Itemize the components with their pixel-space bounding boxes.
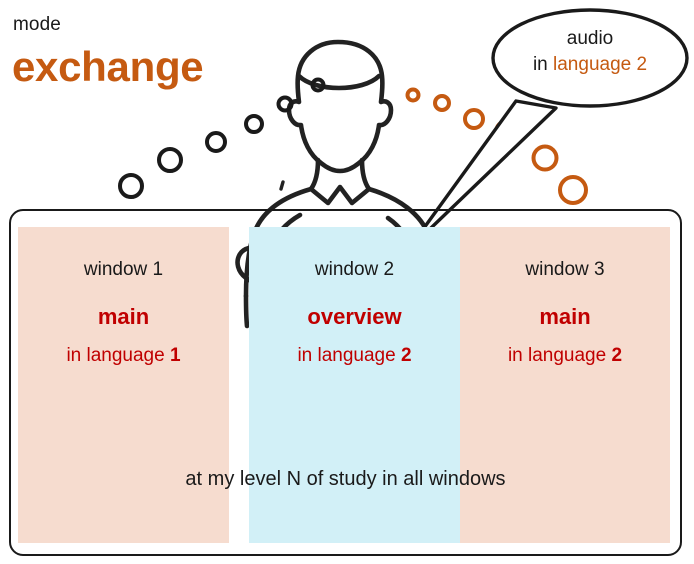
window-2-title: window 2 [249,258,460,282]
window-1-title: window 1 [18,258,229,282]
level-note: at my level N of study in all windows [9,466,682,492]
window-3-language-number: 2 [611,345,622,366]
speech-bubble-line-2-prefix: in [533,54,553,75]
window-1-role: main [18,304,229,330]
mode-kicker: mode [13,14,61,36]
window-2-language: in language 2 [249,344,460,368]
speech-bubble-line-1: audio [497,26,683,52]
window-1-language-number: 1 [170,345,181,366]
window-3-language-prefix: in language [508,345,612,366]
diagram-canvas: mode exchange [0,0,694,564]
decorative-circles-left [120,80,324,198]
window-1-language-prefix: in language [66,345,170,366]
page-title: exchange [12,42,203,92]
speech-bubble-text: audio in language 2 [497,26,683,78]
decorative-circles-right [408,90,587,204]
window-3-title: window 3 [460,258,670,282]
window-2-language-number: 2 [401,345,412,366]
window-1-panel[interactable]: window 1 main in language 1 [18,227,229,543]
speech-bubble-language-highlight: language 2 [553,54,647,75]
window-3-role: main [460,304,670,330]
window-2-panel[interactable]: window 2 overview in language 2 [249,227,460,543]
window-2-language-prefix: in language [297,345,401,366]
window-3-panel[interactable]: window 3 main in language 2 [460,227,670,543]
window-2-role: overview [249,304,460,330]
window-1-language: in language 1 [18,344,229,368]
window-3-language: in language 2 [460,344,670,368]
speech-bubble-line-2: in language 2 [497,52,683,78]
